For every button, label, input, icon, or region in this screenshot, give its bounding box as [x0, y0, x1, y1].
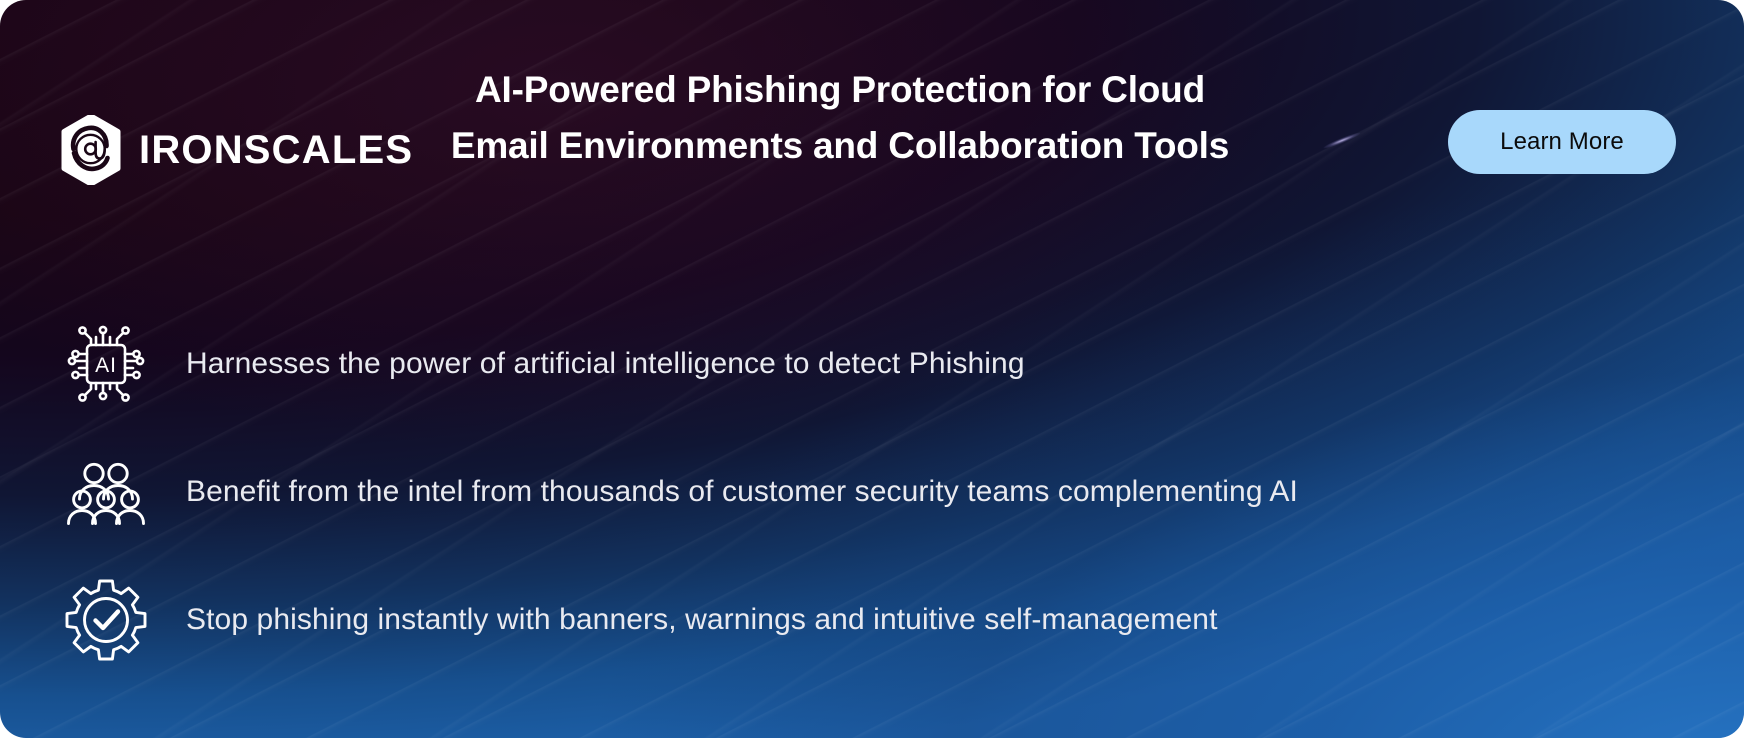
banner-headline: AI-Powered Phishing Protection for Cloud… [430, 62, 1250, 174]
banner-content: IRONSCALES AI-Powered Phishing Protectio… [0, 0, 1744, 738]
svg-text:AI: AI [95, 354, 117, 377]
brand-logo[interactable]: IRONSCALES [60, 115, 413, 185]
gear-check-icon [58, 575, 154, 665]
feature-item: Stop phishing instantly with banners, wa… [0, 556, 1744, 684]
feature-item: Benefit from the intel from thousands of… [0, 428, 1744, 556]
ai-chip-icon: AI [58, 319, 154, 409]
feature-item: AI Harnesses the power of art [0, 300, 1744, 428]
learn-more-button[interactable]: Learn More [1448, 110, 1676, 174]
banner-header: IRONSCALES AI-Powered Phishing Protectio… [0, 0, 1744, 262]
promo-banner: IRONSCALES AI-Powered Phishing Protectio… [0, 0, 1744, 738]
brand-wordmark: IRONSCALES [139, 130, 413, 170]
ironscales-hexagon-at-logo [60, 115, 122, 185]
people-group-icon [58, 447, 154, 537]
feature-label: Stop phishing instantly with banners, wa… [186, 601, 1218, 639]
feature-label: Harnesses the power of artificial intell… [186, 345, 1025, 383]
feature-list: AI Harnesses the power of art [0, 300, 1744, 684]
feature-label: Benefit from the intel from thousands of… [186, 473, 1298, 511]
